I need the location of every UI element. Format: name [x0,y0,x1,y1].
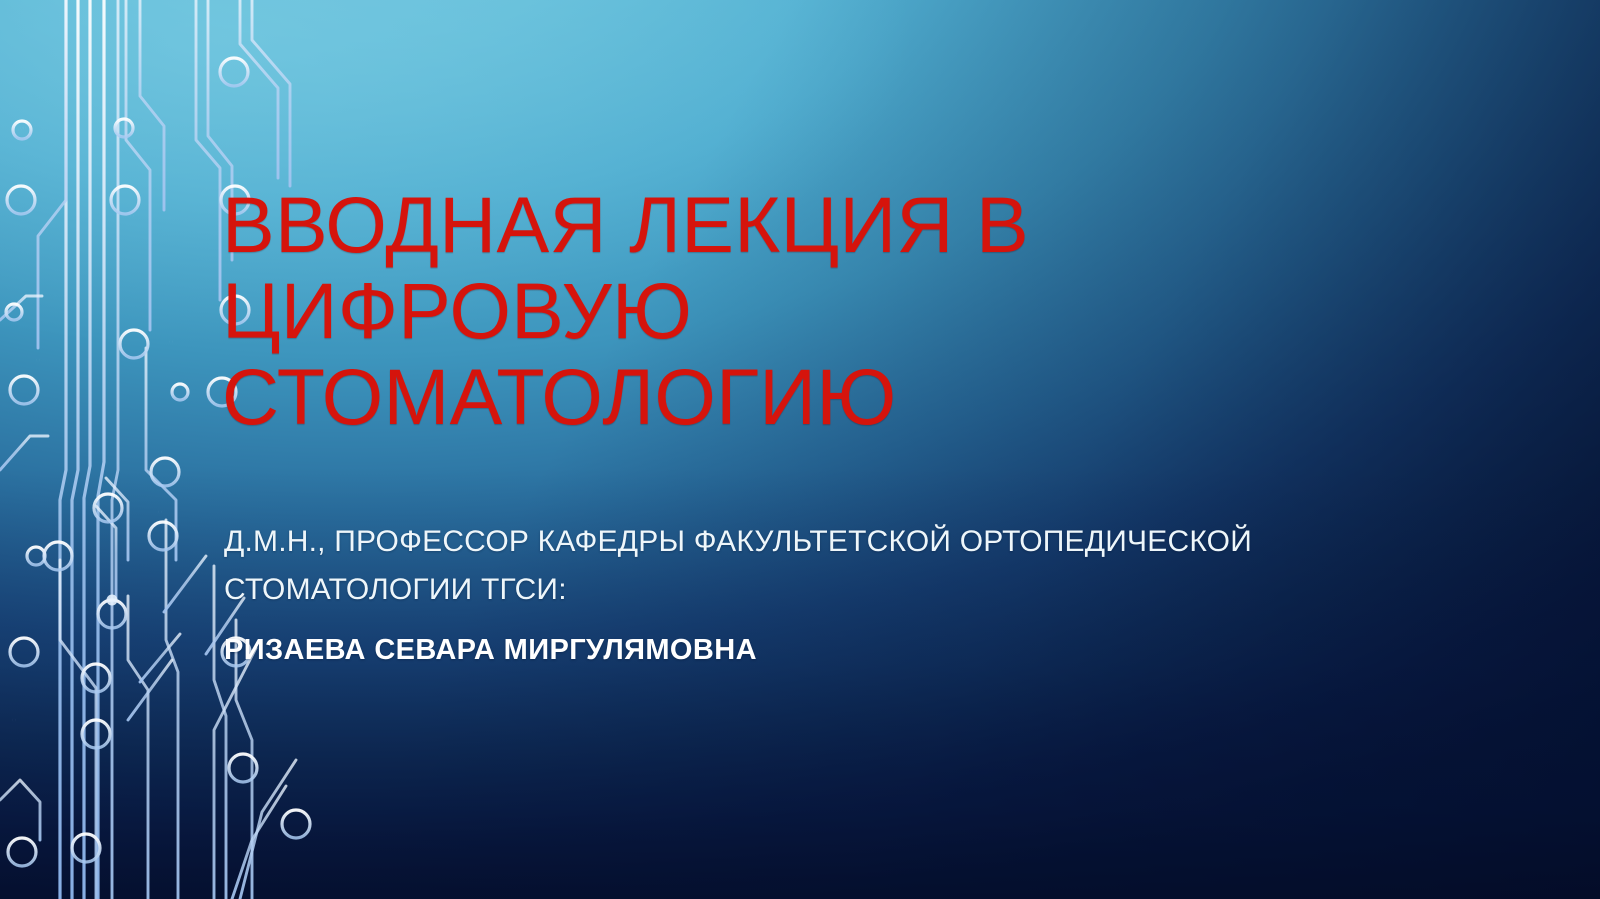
subtitle-affiliation: Д.м.н., профессор кафедры факультетской … [224,518,1344,614]
page-title: Вводная лекция в цифровую стоматологию [222,182,1232,440]
presentation-slide: Вводная лекция в цифровую стоматологию Д… [0,0,1600,899]
slide-text-layer: Вводная лекция в цифровую стоматологию Д… [0,0,1600,899]
presenter-name: Ризаева Севара Миргулямовна [224,630,1124,670]
